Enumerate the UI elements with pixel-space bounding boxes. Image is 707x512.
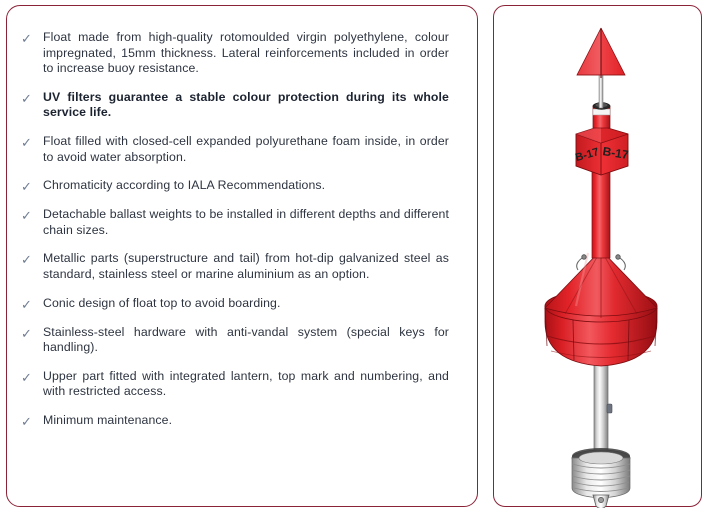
- number-box: B-17 B-17: [574, 126, 630, 175]
- feature-text: Float filled with closed-cell expanded p…: [43, 134, 465, 165]
- check-mark-icon: ✓: [21, 325, 43, 341]
- feature-item-minimum-maintenance: ✓Minimum maintenance.: [21, 413, 465, 429]
- feature-text: Upper part fitted with integrated lanter…: [43, 369, 465, 400]
- feature-item-upper-part: ✓Upper part fitted with integrated lante…: [21, 369, 465, 400]
- top-mark: [577, 28, 625, 78]
- feature-text: Chromaticity according to IALA Recommend…: [43, 178, 465, 194]
- feature-text: Minimum maintenance.: [43, 413, 465, 429]
- feature-item-stainless-hardware: ✓Stainless-steel hardware with anti-vand…: [21, 325, 465, 356]
- feature-text: Stainless-steel hardware with anti-vanda…: [43, 325, 465, 356]
- ballast-weights: [572, 448, 630, 498]
- tail-fitting: [607, 404, 612, 413]
- feature-list: ✓Float made from high-quality rotomoulde…: [21, 30, 465, 442]
- conic-float-top: [545, 250, 657, 318]
- check-mark-icon: ✓: [21, 134, 43, 150]
- feature-text: Metallic parts (superstructure and tail)…: [43, 251, 465, 282]
- check-mark-icon: ✓: [21, 413, 43, 429]
- check-mark-icon: ✓: [21, 90, 43, 106]
- feature-text: Detachable ballast weights to be install…: [43, 207, 465, 238]
- feature-text: Float made from high-quality rotomoulded…: [43, 30, 465, 77]
- check-mark-icon: ✓: [21, 296, 43, 312]
- feature-item-ballast-weights: ✓Detachable ballast weights to be instal…: [21, 207, 465, 238]
- feature-item-conic-design: ✓Conic design of float top to avoid boar…: [21, 296, 465, 312]
- page-root: ✓Float made from high-quality rotomoulde…: [0, 0, 707, 512]
- check-mark-icon: ✓: [21, 30, 43, 46]
- figure-panel: B-17 B-17: [493, 5, 702, 507]
- feature-item-uv-filters: ✓UV filters guarantee a stable colour pr…: [21, 90, 465, 121]
- check-mark-icon: ✓: [21, 369, 43, 385]
- feature-item-float-material: ✓Float made from high-quality rotomoulde…: [21, 30, 465, 77]
- feature-item-metallic-parts: ✓Metallic parts (superstructure and tail…: [21, 251, 465, 282]
- feature-text: Conic design of float top to avoid board…: [43, 296, 465, 312]
- features-panel: ✓Float made from high-quality rotomoulde…: [6, 5, 478, 507]
- buoy-illustration: B-17 B-17: [494, 6, 703, 508]
- feature-item-chromaticity: ✓Chromaticity according to IALA Recommen…: [21, 178, 465, 194]
- check-mark-icon: ✓: [21, 207, 43, 223]
- mast: [592, 166, 610, 258]
- shackle: [593, 495, 609, 508]
- check-mark-icon: ✓: [21, 251, 43, 267]
- feature-text: UV filters guarantee a stable colour pro…: [43, 90, 465, 121]
- feature-item-foam-filled: ✓Float filled with closed-cell expanded …: [21, 134, 465, 165]
- check-mark-icon: ✓: [21, 178, 43, 194]
